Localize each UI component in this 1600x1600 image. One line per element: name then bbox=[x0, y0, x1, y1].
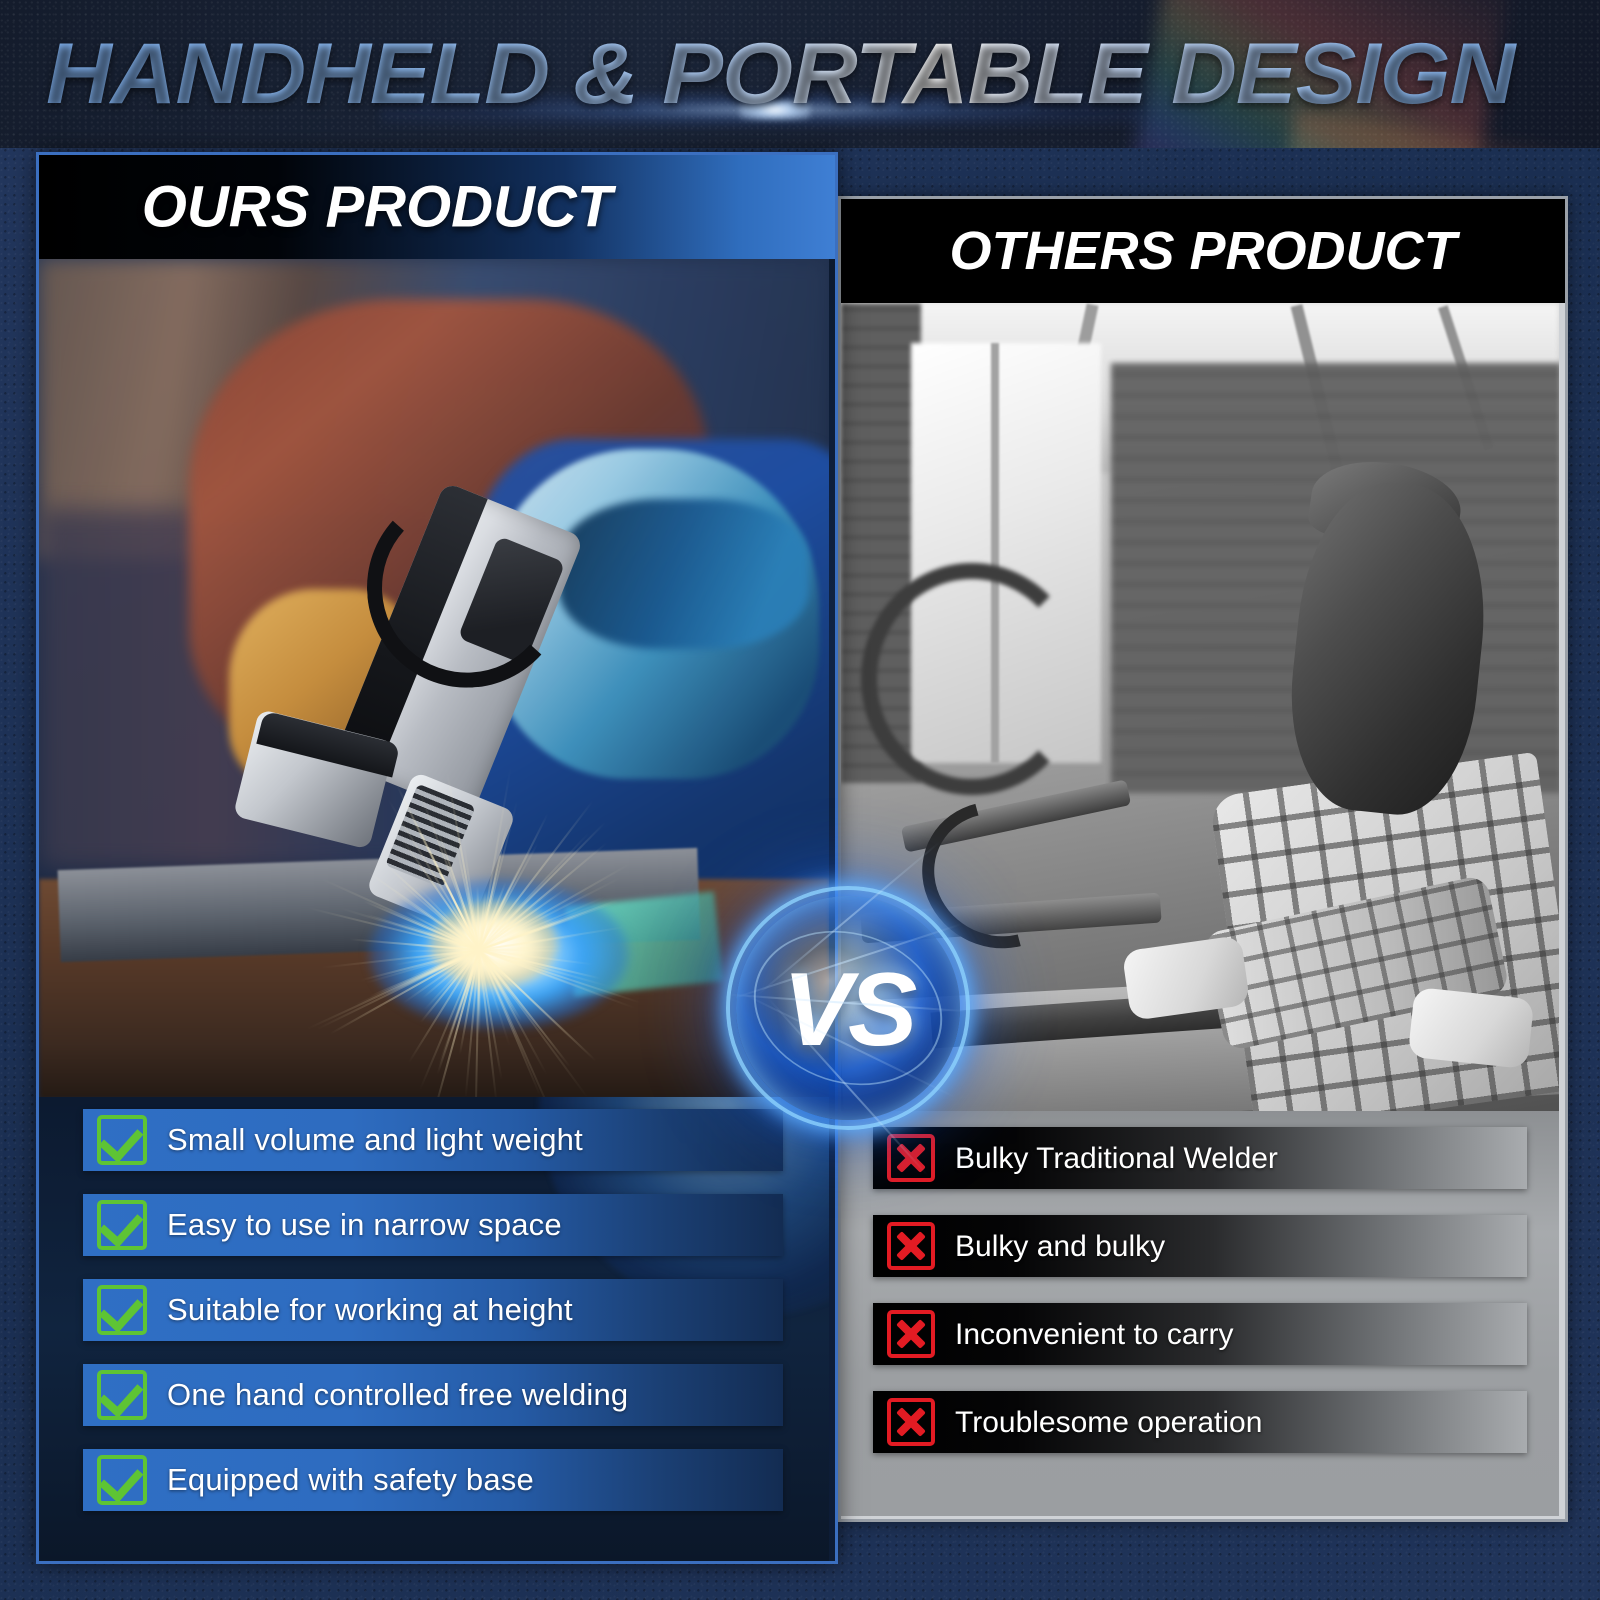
list-item[interactable]: Equipped with safety base bbox=[83, 1449, 783, 1511]
check-icon bbox=[97, 1285, 147, 1335]
list-item-label: Bulky Traditional Welder bbox=[955, 1142, 1278, 1175]
ours-product-panel: OURS PRODUCT bbox=[36, 152, 838, 1564]
check-icon bbox=[97, 1370, 147, 1420]
vs-badge: VS bbox=[718, 878, 978, 1138]
list-item[interactable]: Inconvenient to carry bbox=[873, 1303, 1527, 1365]
list-item-label: Inconvenient to carry bbox=[955, 1318, 1233, 1351]
list-item-label: Suitable for working at height bbox=[167, 1293, 573, 1327]
list-item[interactable]: One hand controlled free welding bbox=[83, 1364, 783, 1426]
check-icon bbox=[97, 1115, 147, 1165]
coiled-hose bbox=[861, 563, 1083, 795]
list-item[interactable]: Easy to use in narrow space bbox=[83, 1194, 783, 1256]
others-con-items: Bulky Traditional Welder Bulky and bulky… bbox=[873, 1127, 1533, 1479]
cross-icon bbox=[887, 1222, 935, 1270]
cross-icon bbox=[887, 1398, 935, 1446]
list-item-label: Bulky and bulky bbox=[955, 1230, 1165, 1263]
list-item-label: Easy to use in narrow space bbox=[167, 1208, 562, 1242]
list-item[interactable]: Small volume and light weight bbox=[83, 1109, 783, 1171]
others-con-list: Bulky Traditional Welder Bulky and bulky… bbox=[841, 1111, 1559, 1516]
list-item-label: One hand controlled free welding bbox=[167, 1378, 628, 1412]
others-product-header: OTHERS PRODUCT bbox=[841, 199, 1565, 303]
list-item-label: Equipped with safety base bbox=[167, 1463, 534, 1497]
ours-product-photo bbox=[39, 259, 829, 1097]
others-product-panel: OTHERS PRODUCT Bulky Traditional Welder bbox=[838, 196, 1568, 1522]
ours-product-title: OURS PRODUCT bbox=[39, 174, 835, 241]
ours-feature-list: Small volume and light weight Easy to us… bbox=[39, 1097, 829, 1561]
list-item[interactable]: Suitable for working at height bbox=[83, 1279, 783, 1341]
cross-icon bbox=[887, 1310, 935, 1358]
check-icon bbox=[97, 1200, 147, 1250]
banner: HANDHELD & PORTABLE DESIGN bbox=[0, 0, 1600, 148]
ours-product-header: OURS PRODUCT bbox=[39, 155, 835, 259]
page-title: HANDHELD & PORTABLE DESIGN bbox=[46, 22, 1600, 126]
list-item[interactable]: Troublesome operation bbox=[873, 1391, 1527, 1453]
check-icon bbox=[97, 1455, 147, 1505]
spark-shower bbox=[39, 259, 829, 1097]
others-product-title: OTHERS PRODUCT bbox=[841, 220, 1565, 282]
ours-feature-items: Small volume and light weight Easy to us… bbox=[75, 1109, 791, 1534]
list-item-label: Troublesome operation bbox=[955, 1406, 1262, 1439]
list-item[interactable]: Bulky and bulky bbox=[873, 1215, 1527, 1277]
work-glove bbox=[1408, 987, 1535, 1069]
list-item-label: Small volume and light weight bbox=[167, 1123, 583, 1157]
